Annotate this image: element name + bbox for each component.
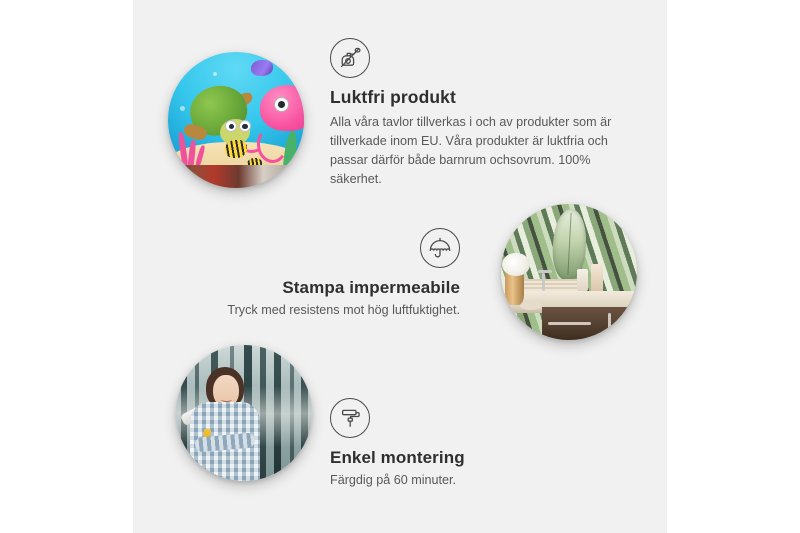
vanity-cabinet	[542, 307, 637, 340]
feature-title: Enkel montering	[330, 447, 610, 468]
feature-odour-free: Luktfri produkt Alla våra tavlor tillver…	[330, 38, 630, 189]
paint-roller-icon	[330, 398, 370, 438]
feature-description: Alla våra tavlor tillverkas i och av pro…	[330, 113, 630, 190]
tile-backsplash	[515, 279, 586, 291]
drawer-handle	[548, 322, 590, 325]
tropical-wallpaper	[501, 204, 637, 340]
striped-fish	[225, 140, 247, 158]
feature-easy-mounting: Enkel montering Färgdig på 60 minuter.	[330, 398, 610, 490]
door-handle	[608, 313, 611, 334]
feature-description: Tryck med resistens mot hög luftfuktighe…	[175, 301, 460, 320]
umbrella-icon	[420, 228, 460, 268]
bottle	[591, 264, 603, 294]
foreground-strip	[168, 165, 304, 188]
screenshot-stage: Luktfri produkt Alla våra tavlor tillver…	[0, 0, 800, 533]
bubble-icon	[180, 106, 185, 111]
no-fragrance-icon	[330, 38, 370, 78]
purple-fish	[251, 60, 273, 76]
forest-wallpaper	[176, 345, 312, 481]
flowers	[502, 253, 529, 276]
soap-dish	[520, 302, 542, 310]
feature-waterproof-print: Stampa impermeabile Tryck med resistens …	[175, 228, 460, 320]
photo-woman-with-roller	[176, 345, 312, 481]
door-handle	[627, 313, 630, 334]
coral-icon	[173, 128, 219, 166]
photo-bathroom-tropical	[501, 204, 637, 340]
bottle	[577, 269, 588, 291]
woman-smile	[221, 397, 232, 402]
feature-title: Stampa impermeabile	[175, 277, 460, 298]
photo-underwater-scene	[168, 52, 304, 188]
feature-description: Färgdig på 60 minuter.	[330, 471, 610, 490]
bubble-icon	[213, 72, 217, 76]
faucet-icon	[542, 273, 545, 291]
octopus-eye	[274, 97, 289, 112]
underwater-background	[168, 52, 304, 188]
feature-title: Luktfri produkt	[330, 87, 630, 109]
